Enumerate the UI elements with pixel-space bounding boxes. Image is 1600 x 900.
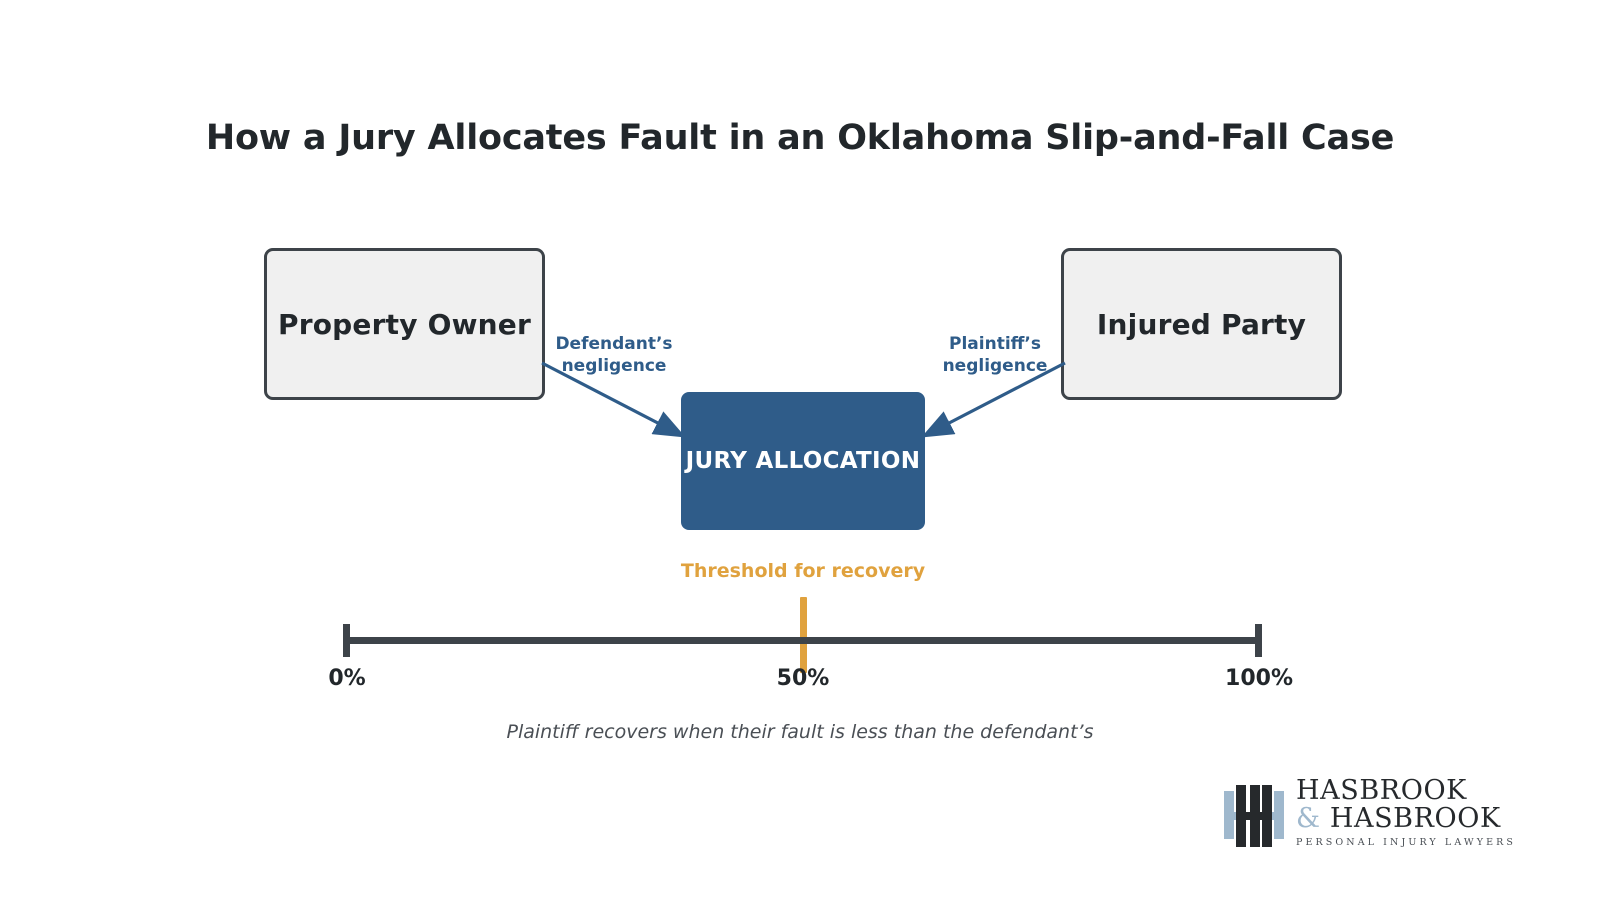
scale-label-0-percent: 0% <box>277 666 417 691</box>
logo-ampersand: & <box>1296 803 1321 834</box>
logo-h-mark-icon <box>1222 779 1284 847</box>
threshold-marker <box>800 597 807 673</box>
jury-allocation-box: JURY ALLOCATION <box>681 392 925 530</box>
party-box-property-owner: Property Owner <box>264 248 545 400</box>
hasbrook-logo: HASBROOK & HASBROOK PERSONAL INJURY LAWY… <box>1222 777 1552 857</box>
arrow-label-plaintiff-negligence: Plaintiff’s negligence <box>911 334 1079 378</box>
jury-allocation-label: JURY ALLOCATION <box>686 447 921 475</box>
scale-label-50-percent: 50% <box>733 666 873 691</box>
party-box-injured-party-label: Injured Party <box>1097 308 1306 341</box>
logo-tagline: PERSONAL INJURY LAWYERS <box>1296 837 1516 848</box>
fault-scale-bar <box>346 637 1259 644</box>
arrow-label-defendant-negligence: Defendant’s negligence <box>530 334 698 378</box>
logo-line-1: HASBROOK <box>1296 777 1516 805</box>
diagram-caption: Plaintiff recovers when their fault is l… <box>0 721 1600 743</box>
threshold-label: Threshold for recovery <box>603 560 1003 582</box>
scale-tick-end <box>1255 624 1262 657</box>
scale-tick-start <box>343 624 350 657</box>
scale-label-100-percent: 100% <box>1189 666 1329 691</box>
party-box-injured-party: Injured Party <box>1061 248 1342 400</box>
logo-line-2: & HASBROOK <box>1296 805 1516 833</box>
logo-line-2-text: HASBROOK <box>1330 803 1501 834</box>
logo-wordmark: HASBROOK & HASBROOK PERSONAL INJURY LAWY… <box>1296 777 1516 848</box>
party-box-property-owner-label: Property Owner <box>278 308 531 341</box>
page-title: How a Jury Allocates Fault in an Oklahom… <box>0 118 1600 158</box>
